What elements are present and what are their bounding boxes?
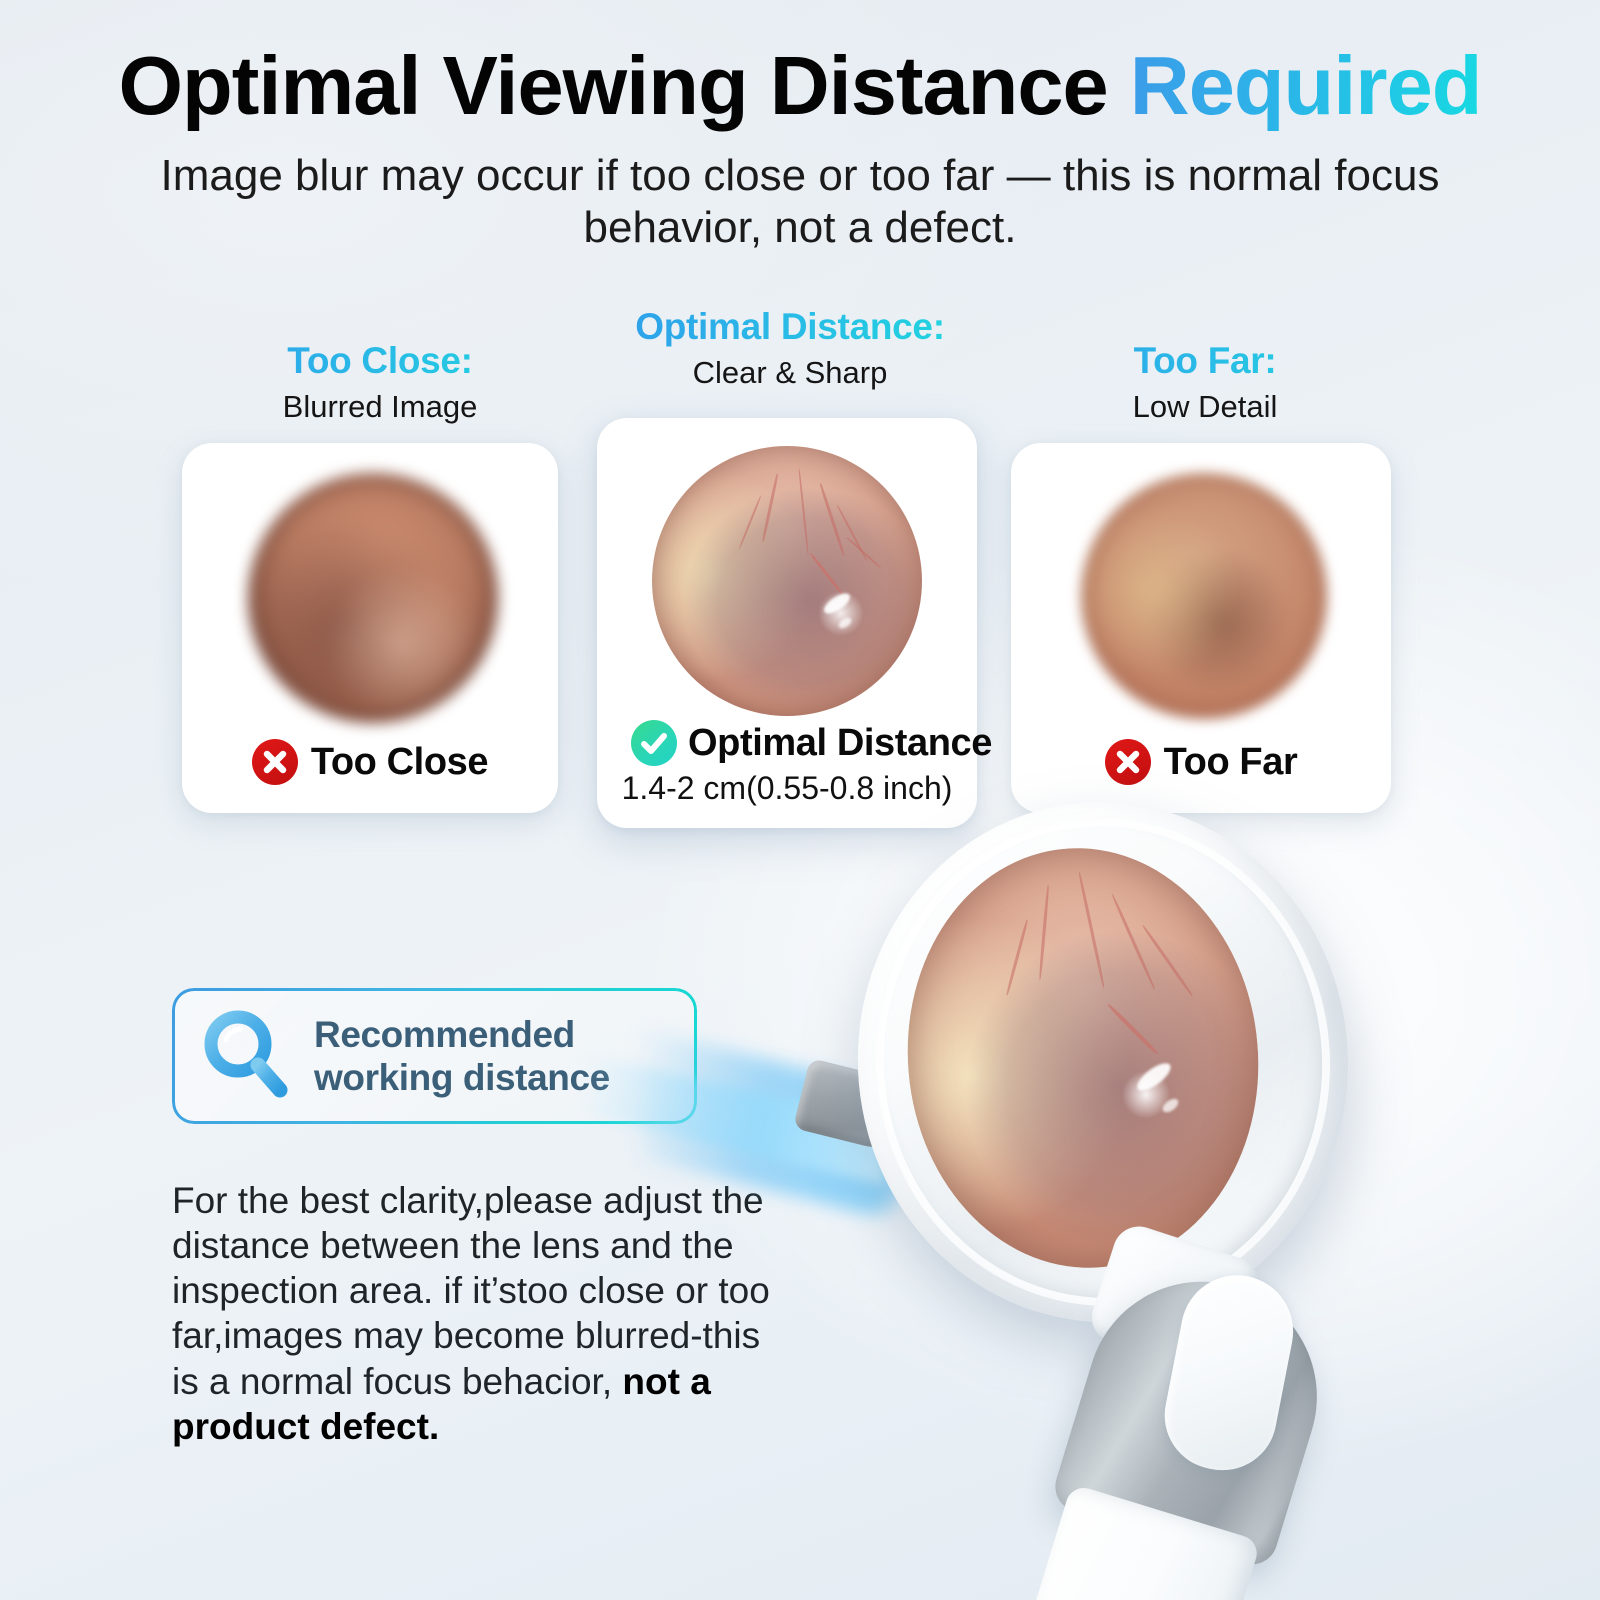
check-mark-icon (631, 720, 677, 766)
card-status-row: Too Close (182, 739, 558, 785)
column-heading-label: Too Far: (1015, 340, 1395, 382)
page-title-main: Optimal Viewing Distance (119, 39, 1130, 132)
column-heading-too-far: Too Far: Low Detail (1015, 340, 1395, 425)
infographic-root: Optimal Viewing Distance Required Image … (0, 0, 1600, 1600)
comparison-card-too-close: Too Close (182, 443, 558, 813)
recommended-line-1: Recommended (314, 1013, 610, 1056)
body-paragraph: For the best clarity,please adjust the d… (172, 1178, 782, 1449)
x-mark-icon (252, 739, 298, 785)
ear-image-blurred-close (248, 473, 498, 723)
page-title: Optimal Viewing Distance Required (0, 38, 1600, 134)
ear-image-blurred-far (1081, 473, 1327, 719)
column-heading-label: Optimal Distance: (595, 306, 985, 348)
column-heading-label: Too Close: (190, 340, 570, 382)
column-heading-too-close: Too Close: Blurred Image (190, 340, 570, 425)
otoscope-device (800, 770, 1520, 1600)
magnifier-icon (200, 1006, 292, 1107)
column-subheading-label: Low Detail (1015, 389, 1395, 425)
card-status-label: Optimal Distance (688, 722, 992, 765)
recommended-line-2: working distance (314, 1056, 610, 1099)
column-heading-optimal: Optimal Distance: Clear & Sharp (595, 306, 985, 391)
recommended-distance-text: Recommended working distance (314, 1013, 610, 1100)
card-status-row: Optimal Distance (597, 720, 977, 766)
column-subheading-label: Clear & Sharp (595, 355, 985, 391)
page-title-accent: Required (1130, 39, 1482, 132)
column-subheading-label: Blurred Image (190, 389, 570, 425)
card-status-label: Too Close (311, 741, 488, 784)
comparison-card-optimal: Optimal Distance 1.4-2 cm(0.55-0.8 inch) (597, 418, 977, 828)
page-subtitle: Image blur may occur if too close or too… (120, 150, 1480, 255)
comparison-card-too-far: Too Far (1011, 443, 1391, 813)
ear-image-sharp (652, 446, 922, 716)
